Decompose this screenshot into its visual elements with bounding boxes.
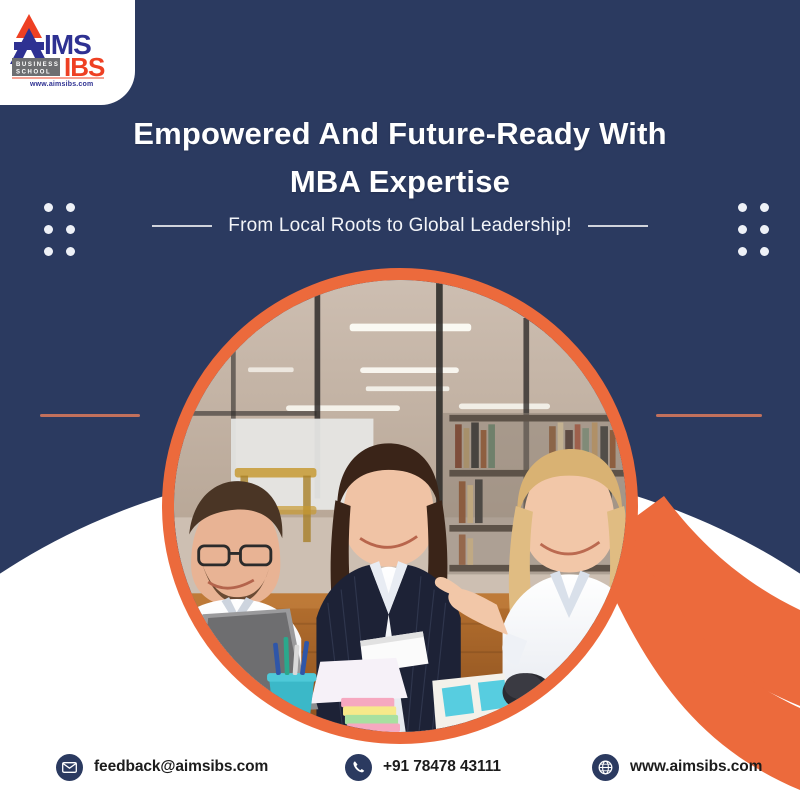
subtitle-rule-right	[588, 225, 648, 227]
envelope-icon	[56, 754, 83, 781]
headline-line-2: MBA Expertise	[0, 158, 800, 206]
accent-rule-left	[40, 414, 140, 417]
headline-line-1: Empowered And Future-Ready With	[133, 116, 667, 151]
contact-email-label: feedback@aimsibs.com	[94, 758, 268, 776]
aims-ibs-logo: IMS IBS BUSINESS SCHOOL www.aimsibs.com	[8, 8, 120, 88]
team-photo-ring	[162, 268, 638, 744]
dot	[760, 247, 769, 256]
globe-icon	[592, 754, 619, 781]
team-meeting-photo	[174, 280, 626, 732]
svg-text:www.aimsibs.com: www.aimsibs.com	[29, 81, 93, 88]
contact-website-label: www.aimsibs.com	[630, 758, 762, 776]
page-title: Empowered And Future-Ready With MBA Expe…	[0, 110, 800, 206]
subtitle-rule-left	[152, 225, 212, 227]
subtitle-row: From Local Roots to Global Leadership!	[0, 215, 800, 237]
contact-website[interactable]: www.aimsibs.com	[592, 754, 762, 781]
phone-icon	[345, 754, 372, 781]
dot	[66, 247, 75, 256]
svg-text:BUSINESS: BUSINESS	[16, 62, 59, 68]
subtitle-text: From Local Roots to Global Leadership!	[228, 215, 571, 237]
dot	[738, 247, 747, 256]
dot	[44, 247, 53, 256]
accent-rule-right	[656, 414, 762, 417]
logo-badge: IMS IBS BUSINESS SCHOOL www.aimsibs.com	[0, 0, 135, 105]
footer-contact-bar: feedback@aimsibs.com +91 78478 43111	[0, 734, 800, 800]
contact-phone[interactable]: +91 78478 43111	[345, 754, 501, 781]
svg-text:SCHOOL: SCHOOL	[16, 70, 51, 76]
contact-email[interactable]: feedback@aimsibs.com	[56, 754, 268, 781]
contact-phone-label: +91 78478 43111	[383, 758, 501, 776]
promotional-poster: IMS IBS BUSINESS SCHOOL www.aimsibs.com …	[0, 0, 800, 800]
